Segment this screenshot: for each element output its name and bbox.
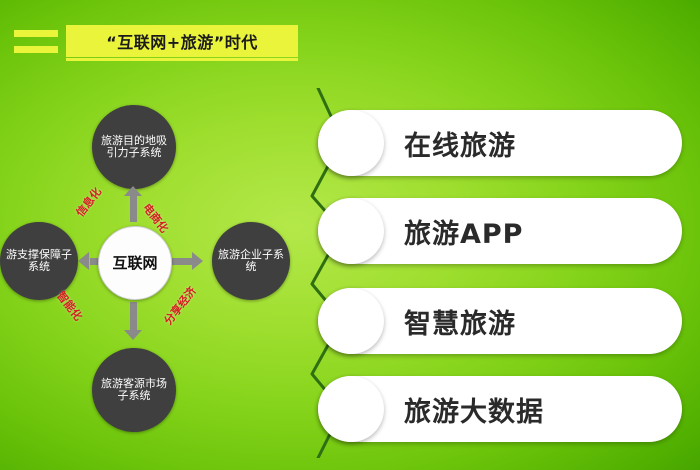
diagram-hub-label: 互联网 — [108, 255, 161, 271]
banner-row-3: 智慧旅游 — [318, 288, 682, 354]
banner-row-2: 旅游APP — [318, 198, 682, 264]
banner-label-2: 旅游APP — [404, 212, 523, 251]
banner-bullet-circle-2 — [318, 198, 384, 264]
arrow-left-head-icon — [78, 252, 89, 270]
arrow-right-shaft — [172, 258, 194, 265]
page-title: “互联网+旅游”时代 — [106, 29, 257, 53]
diagram-node-top-label: 旅游目的地吸引力子系统 — [92, 135, 176, 160]
diagram-node-right-label: 旅游企业子系统 — [212, 249, 290, 274]
banner-label-1: 在线旅游 — [404, 124, 516, 163]
decor-bar-top — [14, 30, 58, 37]
diagram-node-bottom: 旅游客源市场子系统 — [92, 348, 176, 432]
diagonal-label-bottom-left: 智能化 — [53, 288, 86, 324]
banner-bullet-circle-1 — [318, 110, 384, 176]
diagonal-label-bottom-right: 分享经济 — [160, 283, 200, 328]
title-underline — [66, 58, 298, 61]
arrow-down-head-icon — [124, 330, 142, 340]
diagonal-label-top-left: 信息化 — [72, 184, 105, 220]
diagram-node-right: 旅游企业子系统 — [212, 222, 290, 300]
diagram-hub-node: 互联网 — [98, 226, 172, 300]
arrow-down-shaft — [130, 302, 137, 332]
diagram-node-left-label: 游支撑保障子系统 — [0, 249, 78, 274]
decor-bar-bottom — [14, 46, 58, 53]
banner-label-3: 智慧旅游 — [404, 302, 516, 341]
banner-bullet-circle-3 — [318, 288, 384, 354]
banner-row-1: 在线旅游 — [318, 110, 682, 176]
arrow-up-head-icon — [124, 186, 142, 196]
diagram-node-bottom-label: 旅游客源市场子系统 — [92, 378, 176, 403]
slide-canvas: “互联网+旅游”时代 旅游目的地吸引力子系统 旅游企业子系统 旅游客源市场子系统… — [0, 0, 700, 470]
title-banner: “互联网+旅游”时代 — [66, 25, 298, 57]
diagram-node-top: 旅游目的地吸引力子系统 — [92, 105, 176, 189]
arrow-right-head-icon — [192, 252, 203, 270]
arrow-up-shaft — [130, 192, 137, 222]
banner-bullet-circle-4 — [318, 376, 384, 442]
banner-row-4: 旅游大数据 — [318, 376, 682, 442]
banner-label-4: 旅游大数据 — [404, 390, 544, 429]
